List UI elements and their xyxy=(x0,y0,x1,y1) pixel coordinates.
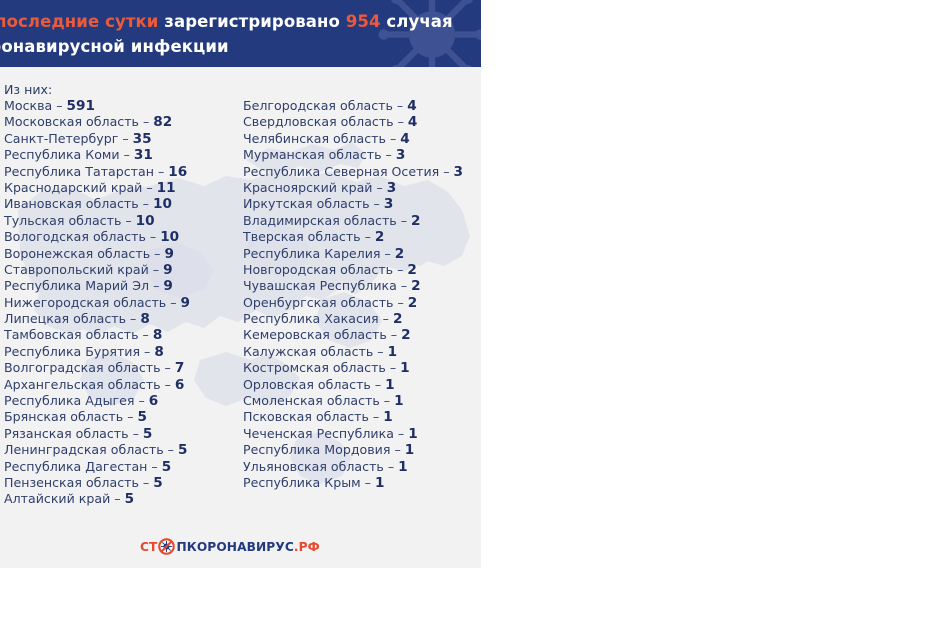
region-count: 2 xyxy=(408,295,417,311)
headline-line2: оронавирусной инфекции xyxy=(0,34,448,59)
region-name: Владимирская область – xyxy=(243,213,411,228)
region-row: Тверская область – 2 xyxy=(243,229,481,245)
region-row: Калужская область – 1 xyxy=(243,344,481,360)
region-name: Воронежская область – xyxy=(4,246,164,261)
regions-left-column: Москва – 591Московская область – 82Санкт… xyxy=(4,98,242,508)
headline-registered: зарегистрировано xyxy=(158,12,345,31)
region-row: Красноярский край – 3 xyxy=(243,180,481,196)
region-name: Оренбургская область – xyxy=(243,295,408,310)
region-count: 2 xyxy=(393,311,402,327)
region-row: Мурманская область – 3 xyxy=(243,147,481,163)
region-count: 5 xyxy=(138,409,147,425)
region-row: Пензенская область – 5 xyxy=(4,475,242,491)
region-name: Смоленская область – xyxy=(243,393,394,408)
region-count: 1 xyxy=(405,442,414,458)
region-row: Московская область – 82 xyxy=(4,114,242,130)
region-name: Иркутская область – xyxy=(243,196,384,211)
region-row: Ставропольский край – 9 xyxy=(4,262,242,278)
region-row: Владимирская область – 2 xyxy=(243,213,481,229)
region-name: Красноярский край – xyxy=(243,180,387,195)
poster: а последние сутки зарегистрировано 954 с… xyxy=(0,0,481,568)
region-name: Ленинградская область – xyxy=(4,442,178,457)
region-count: 6 xyxy=(175,377,184,393)
region-name: Ставропольский край – xyxy=(4,262,163,277)
region-count: 6 xyxy=(149,393,158,409)
region-row: Вологодская область – 10 xyxy=(4,229,242,245)
region-row: Челябинская область – 4 xyxy=(243,131,481,147)
region-name: Республика Адыгея – xyxy=(4,393,149,408)
stop-virus-icon xyxy=(158,538,175,555)
logo-text-part1: СТ xyxy=(140,540,157,554)
region-count: 3 xyxy=(454,164,463,180)
region-name: Санкт-Петербург – xyxy=(4,131,133,146)
region-row: Республика Северная Осетия – 3 xyxy=(243,164,481,180)
region-row: Республика Марий Эл – 9 xyxy=(4,278,242,294)
region-count: 10 xyxy=(136,213,155,229)
region-name: Ивановская область – xyxy=(4,196,153,211)
region-name: Волгоградская область – xyxy=(4,360,175,375)
region-count: 4 xyxy=(408,114,417,130)
logo-text-part3: .РФ xyxy=(294,540,320,554)
region-name: Республика Карелия – xyxy=(243,246,395,261)
region-name: Новгородская область – xyxy=(243,262,407,277)
region-row: Белгородская область – 4 xyxy=(243,98,481,114)
region-count: 3 xyxy=(396,147,405,163)
region-row: Оренбургская область – 2 xyxy=(243,295,481,311)
region-name: Чувашская Республика – xyxy=(243,278,411,293)
region-count: 2 xyxy=(375,229,384,245)
region-count: 1 xyxy=(394,393,403,409)
region-count: 1 xyxy=(383,409,392,425)
region-count: 9 xyxy=(163,262,172,278)
region-count: 9 xyxy=(164,246,173,262)
region-row: Республика Дагестан – 5 xyxy=(4,459,242,475)
logo-text-part2: ПКОРОНАВИРУС xyxy=(176,540,293,554)
region-name: Вологодская область – xyxy=(4,229,160,244)
region-row: Волгоградская область – 7 xyxy=(4,360,242,376)
region-count: 3 xyxy=(387,180,396,196)
region-row: Свердловская область – 4 xyxy=(243,114,481,130)
region-row: Тамбовская область – 8 xyxy=(4,327,242,343)
region-name: Тверская область – xyxy=(243,229,375,244)
region-count: 1 xyxy=(398,459,407,475)
region-row: Алтайский край – 5 xyxy=(4,491,242,507)
region-row: Москва – 591 xyxy=(4,98,242,114)
intro-label: Из них: xyxy=(4,82,52,97)
region-name: Ульяновская область – xyxy=(243,459,398,474)
region-name: Тульская область – xyxy=(4,213,136,228)
region-name: Рязанская область – xyxy=(4,426,143,441)
region-count: 9 xyxy=(181,295,190,311)
region-name: Белгородская область – xyxy=(243,98,407,113)
region-count: 10 xyxy=(153,196,172,212)
region-name: Республика Северная Осетия – xyxy=(243,164,454,179)
region-count: 82 xyxy=(153,114,172,130)
footer: СТ xyxy=(0,535,481,568)
region-name: Республика Крым – xyxy=(243,475,375,490)
region-name: Республика Марий Эл – xyxy=(4,278,163,293)
region-row: Костромская область – 1 xyxy=(243,360,481,376)
region-count: 591 xyxy=(67,98,95,114)
region-name: Московская область – xyxy=(4,114,153,129)
region-name: Костромская область – xyxy=(243,360,400,375)
region-name: Нижегородская область – xyxy=(4,295,181,310)
region-name: Липецкая область – xyxy=(4,311,140,326)
region-name: Пензенская область – xyxy=(4,475,153,490)
region-row: Республика Коми – 31 xyxy=(4,147,242,163)
region-row: Нижегородская область – 9 xyxy=(4,295,242,311)
region-name: Свердловская область – xyxy=(243,114,408,129)
region-count: 5 xyxy=(143,426,152,442)
region-row: Республика Татарстан – 16 xyxy=(4,164,242,180)
region-count: 2 xyxy=(401,327,410,343)
region-count: 5 xyxy=(178,442,187,458)
stopkoronavirus-logo[interactable]: СТ xyxy=(140,538,320,555)
region-count: 11 xyxy=(157,180,176,196)
region-row: Орловская область – 1 xyxy=(243,377,481,393)
region-name: Кемеровская область – xyxy=(243,327,401,342)
region-row: Архангельская область – 6 xyxy=(4,377,242,393)
region-name: Республика Дагестан – xyxy=(4,459,162,474)
region-row: Санкт-Петербург – 35 xyxy=(4,131,242,147)
region-count: 4 xyxy=(407,98,416,114)
region-row: Воронежская область – 9 xyxy=(4,246,242,262)
region-count: 8 xyxy=(153,327,162,343)
region-count: 2 xyxy=(395,246,404,262)
region-name: Республика Коми – xyxy=(4,147,134,162)
region-row: Липецкая область – 8 xyxy=(4,311,242,327)
region-name: Челябинская область – xyxy=(243,131,400,146)
region-row: Республика Мордовия – 1 xyxy=(243,442,481,458)
region-count: 7 xyxy=(175,360,184,376)
region-count: 1 xyxy=(408,426,417,442)
region-count: 1 xyxy=(375,475,384,491)
region-name: Алтайский край – xyxy=(4,491,125,506)
region-count: 1 xyxy=(385,377,394,393)
region-name: Краснодарский край – xyxy=(4,180,157,195)
region-count: 2 xyxy=(411,213,420,229)
region-count: 3 xyxy=(384,196,393,212)
region-row: Иркутская область – 3 xyxy=(243,196,481,212)
region-count: 8 xyxy=(154,344,163,360)
regions-right-column: Белгородская область – 4Свердловская обл… xyxy=(243,98,481,491)
region-row: Республика Хакасия – 2 xyxy=(243,311,481,327)
region-row: Чеченская Республика – 1 xyxy=(243,426,481,442)
region-name: Республика Татарстан – xyxy=(4,164,168,179)
headline-period: а последние сутки xyxy=(0,12,158,31)
header-headline: а последние сутки зарегистрировано 954 с… xyxy=(0,9,448,59)
region-name: Калужская область – xyxy=(243,344,388,359)
region-name: Республика Хакасия – xyxy=(243,311,393,326)
region-name: Орловская область – xyxy=(243,377,385,392)
region-count: 1 xyxy=(400,360,409,376)
region-name: Архангельская область – xyxy=(4,377,175,392)
region-name: Брянская область – xyxy=(4,409,138,424)
region-row: Краснодарский край – 11 xyxy=(4,180,242,196)
region-name: Псковская область – xyxy=(243,409,383,424)
region-row: Чувашская Республика – 2 xyxy=(243,278,481,294)
region-row: Псковская область – 1 xyxy=(243,409,481,425)
region-count: 2 xyxy=(407,262,416,278)
region-row: Республика Крым – 1 xyxy=(243,475,481,491)
region-row: Брянская область – 5 xyxy=(4,409,242,425)
region-name: Республика Бурятия – xyxy=(4,344,154,359)
headline-cases-word: случая xyxy=(381,12,453,31)
region-row: Тульская область – 10 xyxy=(4,213,242,229)
region-row: Рязанская область – 5 xyxy=(4,426,242,442)
region-count: 2 xyxy=(411,278,420,294)
region-count: 9 xyxy=(163,278,172,294)
region-count: 5 xyxy=(125,491,134,507)
region-count: 35 xyxy=(133,131,152,147)
region-count: 16 xyxy=(168,164,187,180)
region-row: Кемеровская область – 2 xyxy=(243,327,481,343)
regions-content: Из них: Москва – 591Московская область –… xyxy=(0,67,481,535)
region-row: Ульяновская область – 1 xyxy=(243,459,481,475)
region-count: 8 xyxy=(140,311,149,327)
region-row: Смоленская область – 1 xyxy=(243,393,481,409)
headline-case-count: 954 xyxy=(346,12,381,31)
region-name: Чеченская Республика – xyxy=(243,426,408,441)
region-count: 5 xyxy=(162,459,171,475)
region-count: 10 xyxy=(160,229,179,245)
header-banner: а последние сутки зарегистрировано 954 с… xyxy=(0,0,481,67)
region-row: Республика Карелия – 2 xyxy=(243,246,481,262)
region-row: Ивановская область – 10 xyxy=(4,196,242,212)
region-name: Москва – xyxy=(4,98,67,113)
region-name: Республика Мордовия – xyxy=(243,442,405,457)
region-row: Ленинградская область – 5 xyxy=(4,442,242,458)
region-row: Республика Бурятия – 8 xyxy=(4,344,242,360)
region-count: 1 xyxy=(388,344,397,360)
region-count: 5 xyxy=(153,475,162,491)
region-name: Тамбовская область – xyxy=(4,327,153,342)
region-count: 4 xyxy=(400,131,409,147)
region-count: 31 xyxy=(134,147,153,163)
region-row: Республика Адыгея – 6 xyxy=(4,393,242,409)
region-name: Мурманская область – xyxy=(243,147,396,162)
region-row: Новгородская область – 2 xyxy=(243,262,481,278)
